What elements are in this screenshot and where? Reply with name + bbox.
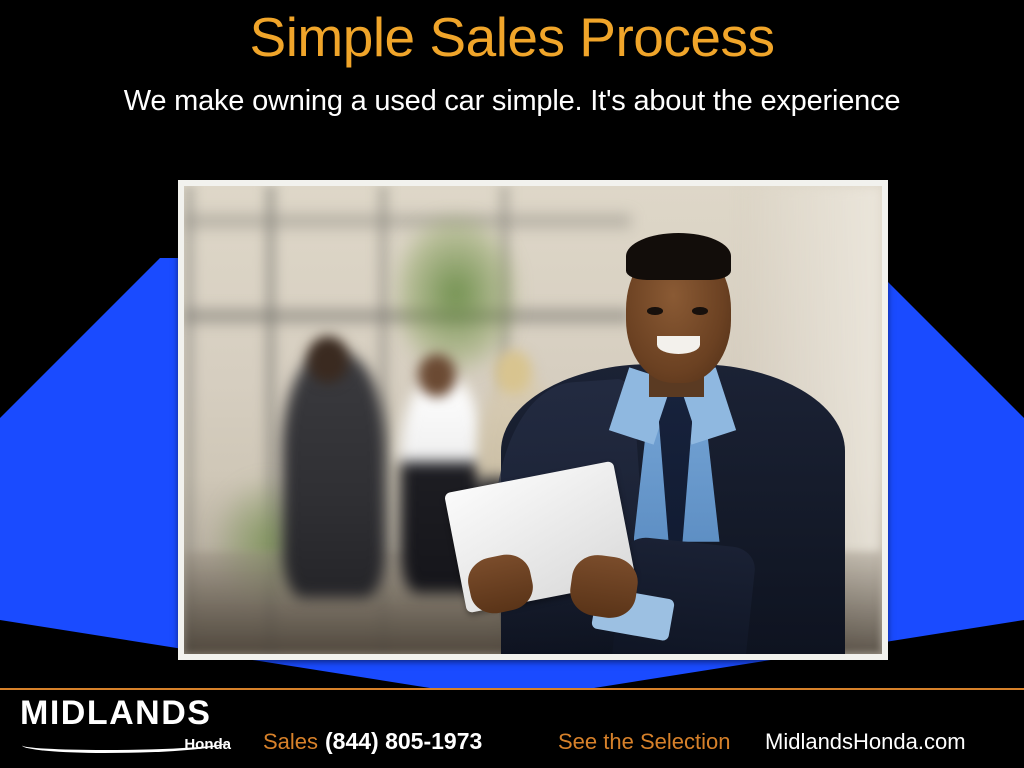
sales-phone-number[interactable]: (844) 805-1973 (325, 728, 482, 755)
hero-photo (184, 186, 882, 654)
foreground-salesman (477, 186, 868, 654)
logo-subtext: Honda (184, 736, 231, 753)
salesman-eye-right (692, 307, 708, 314)
background-person-two-head (418, 354, 456, 396)
page-title: Simple Sales Process (0, 6, 1024, 68)
salesman-eye-left (647, 307, 663, 314)
background-person-one (282, 354, 387, 597)
background-person-one-head (307, 336, 349, 383)
logo-wordmark: MIDLANDS (20, 696, 235, 730)
slide-canvas: Simple Sales Process We make owning a us… (0, 0, 1024, 768)
footer-divider (0, 688, 1024, 690)
sales-label: Sales (263, 729, 318, 755)
salesman-hair (626, 233, 732, 280)
page-subtitle: We make owning a used car simple. It's a… (0, 84, 1024, 118)
see-the-selection-label: See the Selection (558, 729, 730, 755)
hero-photo-frame (178, 180, 888, 660)
website-url[interactable]: MidlandsHonda.com (765, 729, 966, 755)
midlands-honda-logo[interactable]: MIDLANDS Honda (20, 696, 235, 758)
